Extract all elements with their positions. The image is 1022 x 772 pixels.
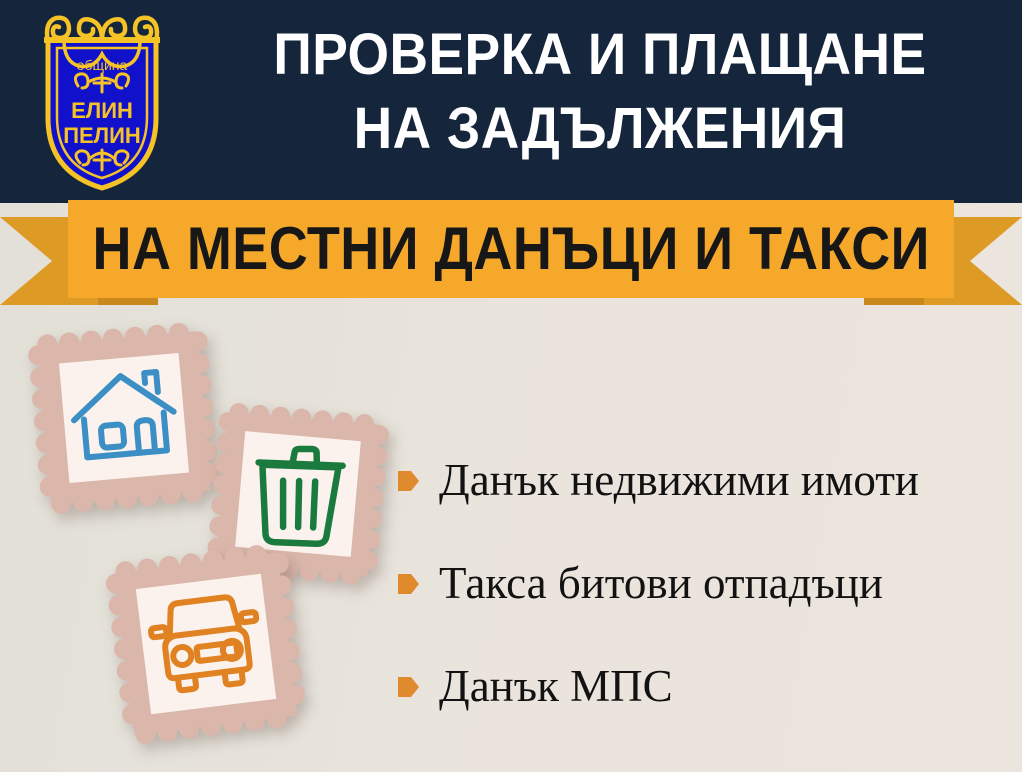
- stamp-card-vehicle: [98, 536, 314, 752]
- ribbon-main-panel: НА МЕСТНИ ДАНЪЦИ И ТАКСИ: [68, 200, 954, 298]
- list-item[interactable]: Такса битови отпадъци: [398, 531, 1008, 634]
- tax-type-list: Данък недвижими имоти Такса битови отпад…: [398, 428, 1008, 737]
- title-line-1: ПРОВЕРКА И ПЛАЩАНЕ: [223, 18, 977, 92]
- arrow-bullet-icon: [398, 675, 419, 699]
- crest-top-label: община: [77, 57, 128, 73]
- list-item-label: Данък недвижими имоти: [439, 455, 919, 505]
- crest-name-line-1: ЕЛИН: [71, 98, 133, 123]
- poster-title: ПРОВЕРКА И ПЛАЩАНЕ НА ЗАДЪЛЖЕНИЯ: [190, 18, 1010, 166]
- title-line-2: НА ЗАДЪЛЖЕНИЯ: [223, 92, 977, 166]
- arrow-bullet-icon: [398, 572, 419, 596]
- list-item[interactable]: Данък МПС: [398, 634, 1008, 737]
- crest-name-line-2: ПЕЛИН: [63, 123, 141, 148]
- list-item[interactable]: Данък недвижими имоти: [398, 428, 1008, 531]
- ribbon-text: НА МЕСТНИ ДАНЪЦИ И ТАКСИ: [92, 217, 929, 281]
- list-item-label: Данък МПС: [439, 661, 673, 711]
- poster-canvas: община ЕЛИН ПЕЛИН ПРОВЕРКА И ПЛАЩАНЕ: [0, 0, 1022, 772]
- arrow-bullet-icon: [398, 469, 419, 493]
- coat-of-arms: община ЕЛИН ПЕЛИН: [22, 6, 182, 198]
- ribbon-banner: НА МЕСТНИ ДАНЪЦИ И ТАКСИ: [0, 200, 1022, 308]
- list-item-label: Такса битови отпадъци: [439, 558, 883, 608]
